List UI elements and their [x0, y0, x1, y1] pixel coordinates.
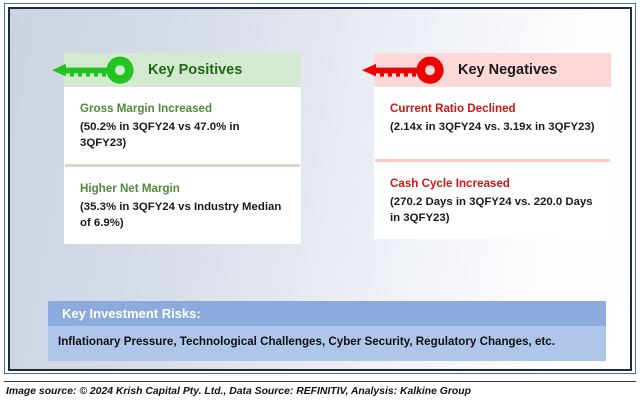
key-icon: [50, 55, 142, 85]
key-negatives-title: Key Negatives: [458, 53, 557, 87]
key-positives-column: Key Positives Gross Margin Increased (50…: [64, 53, 301, 244]
key-positives-header: Key Positives: [64, 53, 301, 87]
key-negatives-header: Key Negatives: [374, 53, 611, 87]
footer-caption: Image source: © 2024 Krish Capital Pty. …: [6, 386, 626, 397]
key-investment-risks-text: Inflationary Pressure, Technological Cha…: [48, 326, 606, 361]
slide-inner-frame: Key Positives Gross Margin Increased (50…: [8, 7, 632, 371]
key-icon: [360, 55, 452, 85]
negative-block-1-detail: (2.14x in 3QFY24 vs. 3.19x in 3QFY23): [390, 119, 595, 135]
slide-canvas: Key Positives Gross Margin Increased (50…: [0, 0, 640, 411]
key-positives-body: Gross Margin Increased (50.2% in 3QFY24 …: [64, 87, 301, 244]
negative-block-2-detail: (270.2 Days in 3QFY24 vs. 220.0 Days in …: [390, 194, 595, 226]
negative-block-1-title: Current Ratio Declined: [390, 101, 595, 116]
positive-block-1: Gross Margin Increased (50.2% in 3QFY24 …: [64, 87, 301, 164]
key-negatives-body: Current Ratio Declined (2.14x in 3QFY24 …: [374, 87, 611, 239]
key-positives-title: Key Positives: [148, 53, 242, 87]
positive-block-1-detail: (50.2% in 3QFY24 vs 47.0% in 3QFY23): [80, 119, 285, 151]
footer-divider: [4, 381, 636, 382]
key-investment-risks-heading: Key Investment Risks:: [48, 301, 606, 326]
key-negatives-column: Key Negatives Current Ratio Declined (2.…: [374, 53, 611, 239]
key-investment-risks-banner: Key Investment Risks: Inflationary Press…: [48, 301, 606, 361]
negative-block-2: Cash Cycle Increased (270.2 Days in 3QFY…: [374, 162, 611, 239]
positive-block-2-detail: (35.3% in 3QFY24 vs Industry Median of 6…: [80, 199, 285, 231]
negative-block-2-title: Cash Cycle Increased: [390, 176, 595, 191]
negative-block-1: Current Ratio Declined (2.14x in 3QFY24 …: [374, 87, 611, 159]
positive-block-2-title: Higher Net Margin: [80, 181, 285, 196]
positive-block-2: Higher Net Margin (35.3% in 3QFY24 vs In…: [64, 167, 301, 244]
positive-block-1-title: Gross Margin Increased: [80, 101, 285, 116]
